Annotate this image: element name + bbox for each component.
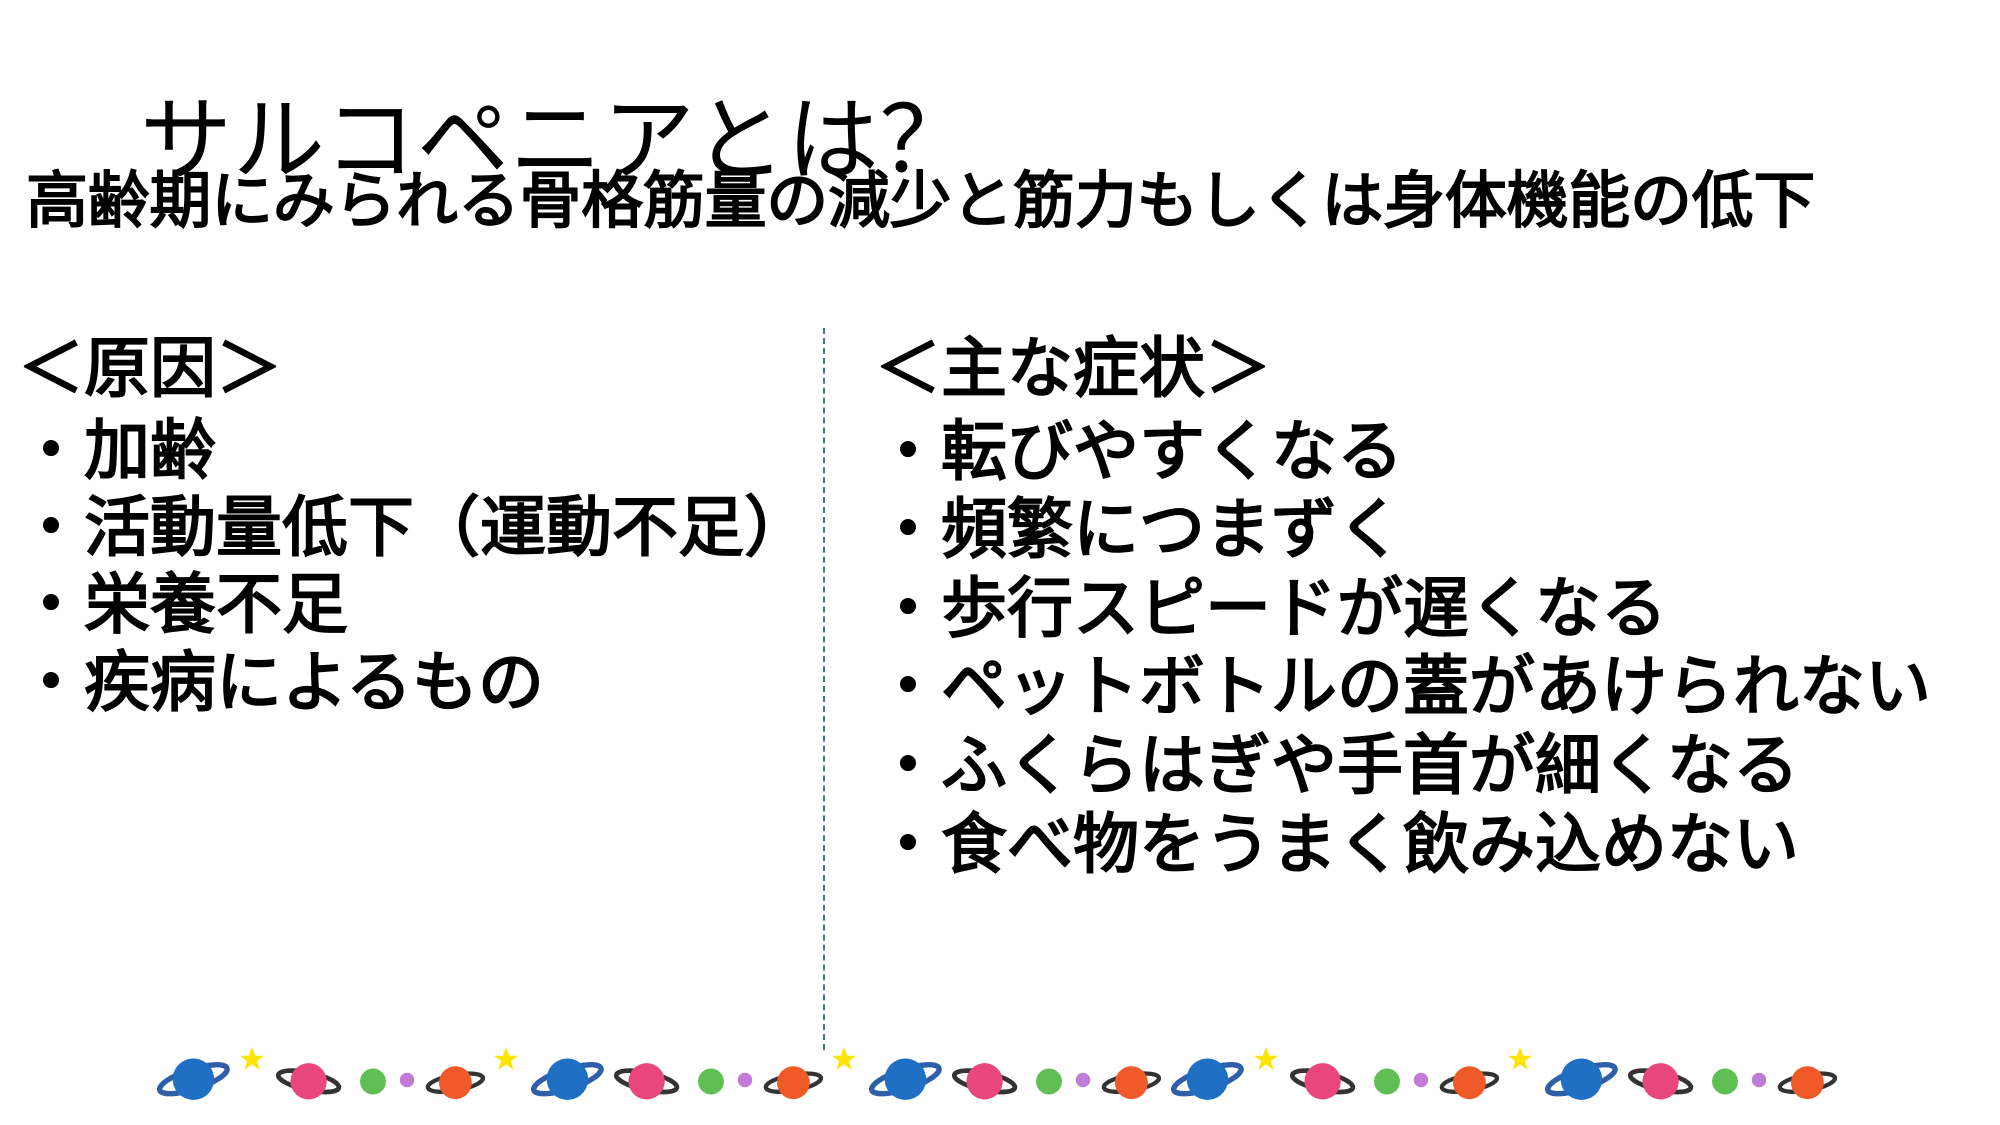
star-icon <box>1253 1046 1279 1077</box>
blue-planet-icon <box>1169 1048 1246 1115</box>
slide-subtitle: 高齢期にみられる骨格筋量の減少と筋力もしくは身体機能の低下 <box>26 168 1815 236</box>
pink-planet-icon <box>951 1054 1018 1114</box>
list-item: ・歩行スピードが遅くなる <box>875 569 1985 648</box>
blue-planet-icon <box>867 1048 944 1115</box>
pink-planet-icon <box>275 1054 342 1114</box>
list-item: ・ペットボトルの蓋があけられない <box>875 647 1985 726</box>
list-item: ・活動量低下（運動不足） <box>18 489 828 566</box>
star-icon <box>493 1046 519 1077</box>
green-planet-icon <box>349 1062 397 1106</box>
causes-heading: ＜原因＞ <box>18 330 828 408</box>
small-dot-icon <box>399 1072 415 1093</box>
symptoms-heading: ＜主な症状＞ <box>875 330 1985 408</box>
green-planet-icon <box>687 1062 735 1106</box>
green-planet-icon <box>1025 1062 1073 1106</box>
slide-canvas: サルコペニアとは？ 高齢期にみられる骨格筋量の減少と筋力もしくは身体機能の低下 … <box>0 0 2000 1125</box>
small-dot-icon <box>1751 1072 1767 1093</box>
orange-planet-icon <box>763 1058 824 1112</box>
list-item: ・頻繁につまずく <box>875 490 1985 569</box>
small-dot-icon <box>1075 1072 1091 1093</box>
orange-planet-icon <box>1777 1058 1838 1112</box>
green-planet-icon <box>1701 1062 1749 1106</box>
pink-planet-icon <box>613 1054 680 1114</box>
causes-list: ・加齢 ・活動量低下（運動不足） ・栄養不足 ・疾病によるもの <box>18 412 828 721</box>
planet-star-border-decoration <box>155 1040 1855 1125</box>
list-item: ・栄養不足 <box>18 566 828 643</box>
pink-planet-icon <box>1289 1054 1356 1114</box>
list-item: ・加齢 <box>18 412 828 489</box>
causes-column: ＜原因＞ ・加齢 ・活動量低下（運動不足） ・栄養不足 ・疾病によるもの <box>18 330 828 721</box>
blue-planet-icon <box>529 1048 606 1115</box>
small-dot-icon <box>737 1072 753 1093</box>
list-item: ・疾病によるもの <box>18 644 828 721</box>
small-dot-icon <box>1413 1072 1429 1093</box>
blue-planet-icon <box>1543 1048 1620 1115</box>
pink-planet-icon <box>1627 1054 1694 1114</box>
list-item: ・食べ物をうまく飲み込めない <box>875 805 1985 884</box>
green-planet-icon <box>1363 1062 1411 1106</box>
content-columns: ＜原因＞ ・加齢 ・活動量低下（運動不足） ・栄養不足 ・疾病によるもの ＜主な… <box>0 330 2000 1050</box>
blue-planet-icon <box>155 1048 232 1115</box>
orange-planet-icon <box>1439 1058 1500 1112</box>
orange-planet-icon <box>1101 1058 1162 1112</box>
star-icon <box>831 1046 857 1077</box>
star-icon <box>239 1046 265 1077</box>
star-icon <box>1507 1046 1533 1077</box>
symptoms-column: ＜主な症状＞ ・転びやすくなる ・頻繁につまずく ・歩行スピードが遅くなる ・ペ… <box>875 330 1985 883</box>
orange-planet-icon <box>425 1058 486 1112</box>
list-item: ・転びやすくなる <box>875 412 1985 491</box>
symptoms-list: ・転びやすくなる ・頻繁につまずく ・歩行スピードが遅くなる ・ペットボトルの蓋… <box>875 412 1985 883</box>
list-item: ・ふくらはぎや手首が細くなる <box>875 726 1985 805</box>
